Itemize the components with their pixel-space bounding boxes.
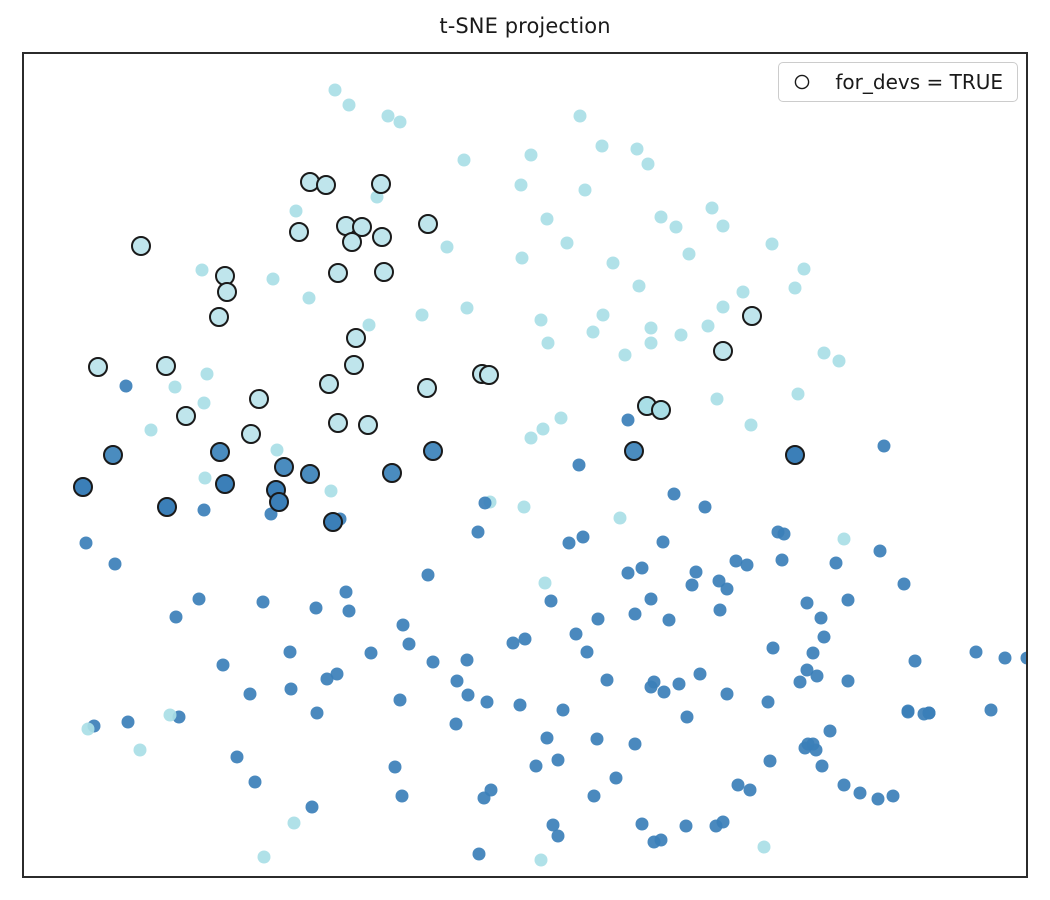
scatter-point xyxy=(579,184,592,197)
scatter-point xyxy=(591,733,604,746)
scatter-point xyxy=(872,793,885,806)
scatter-point xyxy=(614,512,627,525)
scatter-point xyxy=(275,458,293,476)
scatter-point xyxy=(424,442,442,460)
scatter-point xyxy=(157,357,175,375)
scatter-point xyxy=(694,668,707,681)
tsne-figure: t-SNE projection for_devs = TRUE xyxy=(0,0,1050,900)
scatter-point xyxy=(461,654,474,667)
scatter-point xyxy=(596,140,609,153)
scatter-point xyxy=(211,443,229,461)
scatter-point xyxy=(767,642,780,655)
scatter-point xyxy=(816,760,829,773)
scatter-point xyxy=(343,233,361,251)
scatter-point xyxy=(830,557,843,570)
scatter-point xyxy=(416,309,429,322)
scatter-point xyxy=(164,709,177,722)
scatter-point xyxy=(134,744,147,757)
scatter-point xyxy=(673,678,686,691)
scatter-point xyxy=(745,419,758,432)
scatter-point xyxy=(601,674,614,687)
scatter-point xyxy=(285,683,298,696)
scatter-point xyxy=(711,393,724,406)
scatter-point xyxy=(610,772,623,785)
scatter-svg xyxy=(24,54,1026,876)
scatter-point xyxy=(418,379,436,397)
scatter-point xyxy=(807,647,820,660)
scatter-point xyxy=(394,694,407,707)
scatter-point xyxy=(525,149,538,162)
scatter-point xyxy=(778,528,791,541)
scatter-point xyxy=(325,485,338,498)
scatter-point xyxy=(799,742,812,755)
scatter-point xyxy=(818,347,831,360)
scatter-point xyxy=(329,264,347,282)
scatter-point xyxy=(670,221,683,234)
scatter-point xyxy=(645,337,658,350)
scatter-point xyxy=(284,646,297,659)
scatter-point xyxy=(218,283,236,301)
scatter-point xyxy=(645,593,658,606)
scatter-point xyxy=(815,612,828,625)
scatter-point xyxy=(122,716,135,729)
scatter-point xyxy=(714,342,732,360)
scatter-point xyxy=(373,228,391,246)
scatter-point xyxy=(824,725,837,738)
scatter-point xyxy=(89,358,107,376)
scatter-point xyxy=(525,432,538,445)
scatter-point xyxy=(588,790,601,803)
scatter-point xyxy=(737,286,750,299)
scatter-point xyxy=(311,707,324,720)
scatter-point xyxy=(196,264,209,277)
scatter-point xyxy=(198,397,211,410)
scatter-point xyxy=(324,513,342,531)
scatter-point xyxy=(766,238,779,251)
scatter-point xyxy=(321,673,334,686)
scatter-point xyxy=(530,760,543,773)
scatter-point xyxy=(619,349,632,362)
scatter-point xyxy=(451,675,464,688)
scatter-point xyxy=(288,817,301,830)
scatter-point xyxy=(629,738,642,751)
scatter-point xyxy=(363,319,376,332)
scatter-point xyxy=(717,816,730,829)
scatter-point xyxy=(741,559,754,572)
scatter-point xyxy=(714,604,727,617)
scatter-point xyxy=(310,602,323,615)
series-for-devs-true xyxy=(74,173,804,531)
legend-label: for_devs = TRUE xyxy=(835,70,1003,94)
scatter-point xyxy=(231,751,244,764)
scatter-point xyxy=(427,656,440,669)
scatter-point xyxy=(542,337,555,350)
scatter-point xyxy=(652,401,670,419)
scatter-point xyxy=(625,442,643,460)
scatter-point xyxy=(104,446,122,464)
scatter-point xyxy=(655,834,668,847)
scatter-point xyxy=(842,675,855,688)
scatter-point xyxy=(798,263,811,276)
scatter-point xyxy=(479,497,492,510)
scatter-point xyxy=(396,790,409,803)
scatter-point xyxy=(758,841,771,854)
scatter-point xyxy=(389,761,402,774)
scatter-point xyxy=(250,390,268,408)
scatter-point xyxy=(382,110,395,123)
scatter-point xyxy=(732,779,745,792)
scatter-point xyxy=(622,567,635,580)
scatter-point xyxy=(515,179,528,192)
scatter-point xyxy=(365,647,378,660)
scatter-point xyxy=(587,326,600,339)
scatter-point xyxy=(485,784,498,797)
scatter-point xyxy=(675,329,688,342)
scatter-point xyxy=(303,292,316,305)
scatter-point xyxy=(842,594,855,607)
scatter-point xyxy=(657,536,670,549)
scatter-point xyxy=(683,248,696,261)
scatter-point xyxy=(545,595,558,608)
scatter-point xyxy=(145,424,158,437)
scatter-point xyxy=(306,801,319,814)
scatter-point xyxy=(1021,652,1027,665)
scatter-point xyxy=(902,706,915,719)
scatter-point xyxy=(109,558,122,571)
scatter-point xyxy=(622,414,635,427)
scatter-point xyxy=(519,633,532,646)
scatter-point xyxy=(764,755,777,768)
scatter-point xyxy=(343,99,356,112)
scatter-point xyxy=(970,646,983,659)
scatter-point xyxy=(655,211,668,224)
scatter-point xyxy=(198,504,211,517)
scatter-point xyxy=(80,537,93,550)
scatter-point xyxy=(570,628,583,641)
scatter-point xyxy=(535,314,548,327)
scatter-point xyxy=(539,577,552,590)
scatter-point xyxy=(132,237,150,255)
scatter-point xyxy=(257,596,270,609)
scatter-point xyxy=(645,322,658,335)
scatter-point xyxy=(320,375,338,393)
scatter-point xyxy=(375,263,393,281)
scatter-point xyxy=(359,416,377,434)
scatter-point xyxy=(887,790,900,803)
scatter-point xyxy=(789,282,802,295)
scatter-point xyxy=(419,215,437,233)
scatter-point xyxy=(552,754,565,767)
scatter-point xyxy=(776,554,789,567)
scatter-point xyxy=(833,355,846,368)
scatter-point xyxy=(918,708,931,721)
scatter-point xyxy=(786,446,804,464)
scatter-point xyxy=(721,583,734,596)
scatter-point xyxy=(702,320,715,333)
scatter-point xyxy=(721,688,734,701)
scatter-point xyxy=(480,366,498,384)
scatter-point xyxy=(372,175,390,193)
scatter-point xyxy=(170,611,183,624)
scatter-point xyxy=(680,820,693,833)
scatter-point xyxy=(169,381,182,394)
scatter-point xyxy=(642,158,655,171)
scatter-point xyxy=(668,488,681,501)
scatter-point xyxy=(801,664,814,677)
scatter-point xyxy=(516,252,529,265)
scatter-point xyxy=(82,723,95,736)
scatter-point xyxy=(838,779,851,792)
scatter-point xyxy=(329,414,347,432)
scatter-point xyxy=(537,423,550,436)
scatter-point xyxy=(686,579,699,592)
scatter-point xyxy=(343,605,356,618)
scatter-point xyxy=(762,696,775,709)
page-title: t-SNE projection xyxy=(0,14,1050,38)
scatter-point xyxy=(518,501,531,514)
scatter-point xyxy=(636,562,649,575)
scatter-point xyxy=(290,223,308,241)
scatter-point xyxy=(645,681,658,694)
scatter-point xyxy=(301,465,319,483)
scatter-point xyxy=(581,646,594,659)
scatter-point xyxy=(441,241,454,254)
scatter-point xyxy=(838,533,851,546)
scatter-point xyxy=(658,686,671,699)
scatter-point xyxy=(216,475,234,493)
scatter-point xyxy=(636,818,649,831)
scatter-point xyxy=(631,143,644,156)
scatter-point xyxy=(514,699,527,712)
legend[interactable]: for_devs = TRUE xyxy=(778,62,1018,102)
scatter-point xyxy=(267,273,280,286)
scatter-point xyxy=(794,676,807,689)
scatter-point xyxy=(690,566,703,579)
scatter-point xyxy=(210,308,228,326)
scatter-point xyxy=(999,652,1012,665)
scatter-points-layer xyxy=(24,54,1026,876)
scatter-point xyxy=(458,154,471,167)
scatter-point xyxy=(397,619,410,632)
scatter-point xyxy=(340,586,353,599)
scatter-point xyxy=(563,537,576,550)
scatter-point xyxy=(347,329,365,347)
scatter-point xyxy=(561,237,574,250)
scatter-point xyxy=(403,638,416,651)
scatter-point xyxy=(629,608,642,621)
scatter-point xyxy=(329,84,342,97)
scatter-point xyxy=(552,830,565,843)
scatter-point xyxy=(290,205,303,218)
scatter-point xyxy=(242,425,260,443)
scatter-point xyxy=(744,784,757,797)
scatter-point xyxy=(874,545,887,558)
scatter-point xyxy=(481,696,494,709)
scatter-point xyxy=(473,848,486,861)
scatter-point xyxy=(555,412,568,425)
scatter-point xyxy=(249,776,262,789)
scatter-point xyxy=(270,493,288,511)
scatter-point xyxy=(557,704,570,717)
scatter-point xyxy=(801,597,814,610)
legend-marker-open-circle xyxy=(791,71,813,93)
scatter-point xyxy=(854,787,867,800)
scatter-point xyxy=(898,578,911,591)
scatter-point xyxy=(301,173,319,191)
scatter-point xyxy=(577,531,590,544)
plot-area: for_devs = TRUE xyxy=(22,52,1028,878)
scatter-point xyxy=(818,631,831,644)
scatter-point xyxy=(383,464,401,482)
scatter-point xyxy=(663,614,676,627)
scatter-point xyxy=(193,593,206,606)
scatter-point xyxy=(507,637,520,650)
scatter-point xyxy=(271,444,284,457)
scatter-point xyxy=(74,478,92,496)
scatter-point xyxy=(878,440,891,453)
scatter-point xyxy=(541,213,554,226)
scatter-point xyxy=(199,472,212,485)
scatter-point xyxy=(633,280,646,293)
scatter-point xyxy=(345,356,363,374)
scatter-point xyxy=(699,501,712,514)
scatter-point xyxy=(450,718,463,731)
scatter-point xyxy=(743,307,761,325)
scatter-point xyxy=(217,659,230,672)
scatter-point xyxy=(706,202,719,215)
scatter-point xyxy=(541,732,554,745)
scatter-point xyxy=(394,116,407,129)
scatter-point xyxy=(717,220,730,233)
scatter-point xyxy=(177,407,195,425)
scatter-point xyxy=(597,309,610,322)
scatter-point xyxy=(422,569,435,582)
scatter-point xyxy=(607,257,620,270)
scatter-point xyxy=(535,854,548,867)
scatter-point xyxy=(681,711,694,724)
scatter-point xyxy=(909,655,922,668)
scatter-point xyxy=(461,302,474,315)
scatter-point xyxy=(717,301,730,314)
scatter-point xyxy=(158,498,176,516)
scatter-point xyxy=(573,459,586,472)
scatter-point xyxy=(592,613,605,626)
scatter-point xyxy=(792,388,805,401)
scatter-point xyxy=(462,689,475,702)
scatter-point xyxy=(120,380,133,393)
scatter-point xyxy=(201,368,214,381)
scatter-point xyxy=(317,176,335,194)
scatter-point xyxy=(244,688,257,701)
scatter-point xyxy=(985,704,998,717)
scatter-point xyxy=(258,851,271,864)
scatter-point xyxy=(574,110,587,123)
scatter-point xyxy=(472,526,485,539)
